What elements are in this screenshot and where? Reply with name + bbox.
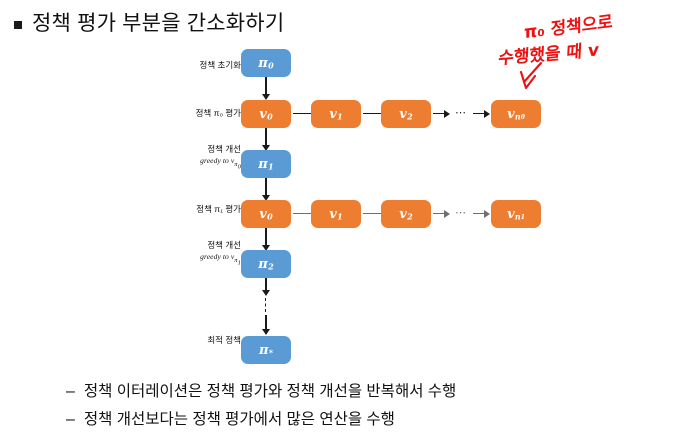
page-title: 정책 평가 부분을 간소화하기 [32,10,284,38]
node-label: v0 [259,107,272,122]
row-label-policy-improvement-1: 정책 개선 greedy to vπ0 [176,144,241,172]
list-item-text: 정책 개선보다는 정책 평가에서 많은 연산을 수행 [84,409,395,431]
node-label: v2 [399,207,412,222]
row-label-policy-init: 정책 초기화 [183,60,241,71]
arrow-head-pi2-down [262,290,270,296]
arrow-head-ellipsis-to-vn0-row0 [484,110,490,118]
row-label-text: 정책 개선 [207,144,241,154]
row-label-text: 정책 π₀ 평가 [196,108,241,118]
node-label: vn0 [507,107,525,122]
node-label: π0 [258,56,273,71]
arrow-head-v2-to-ellipsis-row1 [444,210,450,218]
node-v-n1-row1[interactable]: vn1 [491,200,541,228]
node-label: v0 [259,207,272,222]
ellipsis-row1: ⋯ [455,208,467,219]
list-item: – 정책 개선보다는 정책 평가에서 많은 연산을 수행 [66,409,686,431]
node-label: v2 [399,107,412,122]
node-label: π* [259,343,273,358]
node-label: v1 [329,207,342,222]
list-item: – 정책 이터레이션은 정책 평가와 정책 개선을 반복해서 수행 [66,381,686,403]
row-label-optimal-policy: 최적 정책 [183,335,241,346]
arrow-head-v2-to-ellipsis-row0 [444,110,450,118]
row-sublabel-text: greedy to vπ1 [176,251,241,268]
row-label-policy-evaluation-1: 정책 π₁ 평가 [180,204,241,215]
node-v-2-row1[interactable]: v2 [381,200,431,228]
dash-bullet-icon: – [66,409,75,431]
node-pi-2[interactable]: π2 [241,250,291,278]
node-v-n0-row0[interactable]: vn0 [491,100,541,128]
policy-iteration-diagram: 정책 초기화 정책 π₀ 평가 정책 개선 greedy to vπ0 정책 π… [0,40,700,375]
node-v-1-row0[interactable]: v1 [311,100,361,128]
node-pi-1[interactable]: π1 [241,150,291,178]
connector-dashed-vertical [265,298,266,312]
list-item-text: 정책 이터레이션은 정책 평가와 정책 개선을 반복해서 수행 [84,381,456,403]
row-label-policy-improvement-2: 정책 개선 greedy to vπ1 [176,240,241,268]
node-pi-0[interactable]: π0 [241,49,291,77]
arrow-head-to-pi-star [262,329,270,335]
slide-title-row: 정책 평가 부분을 간소화하기 [14,10,284,38]
node-label: π2 [258,257,273,272]
node-pi-star[interactable]: π* [241,336,291,364]
row-sublabel-text: greedy to vπ0 [176,155,241,172]
ellipsis-row0: ⋯ [455,108,467,119]
node-label: vn1 [507,207,525,222]
row-label-text: 정책 개선 [207,240,241,250]
node-v-1-row1[interactable]: v1 [311,200,361,228]
node-label: π1 [258,157,273,172]
row-label-text: 최적 정책 [207,335,241,345]
dash-bullet-icon: – [66,381,75,403]
slide-canvas: 정책 평가 부분을 간소화하기 정책 초기화 정책 π₀ 평가 정책 개선 gr… [0,0,700,441]
arrow-head-ellipsis-to-vn1-row1 [484,210,490,218]
node-v-2-row0[interactable]: v2 [381,100,431,128]
row-label-policy-evaluation-0: 정책 π₀ 평가 [180,108,241,119]
annotation-line-1: π₀ 정책으로 [524,7,613,43]
node-v-0-row0[interactable]: v0 [241,100,291,128]
node-v-0-row1[interactable]: v0 [241,200,291,228]
row-label-text: 정책 π₁ 평가 [196,204,241,214]
bullet-list: – 정책 이터레이션은 정책 평가와 정책 개선을 반복해서 수행 – 정책 개… [66,381,686,437]
node-label: v1 [329,107,342,122]
square-bullet-icon [14,21,22,29]
